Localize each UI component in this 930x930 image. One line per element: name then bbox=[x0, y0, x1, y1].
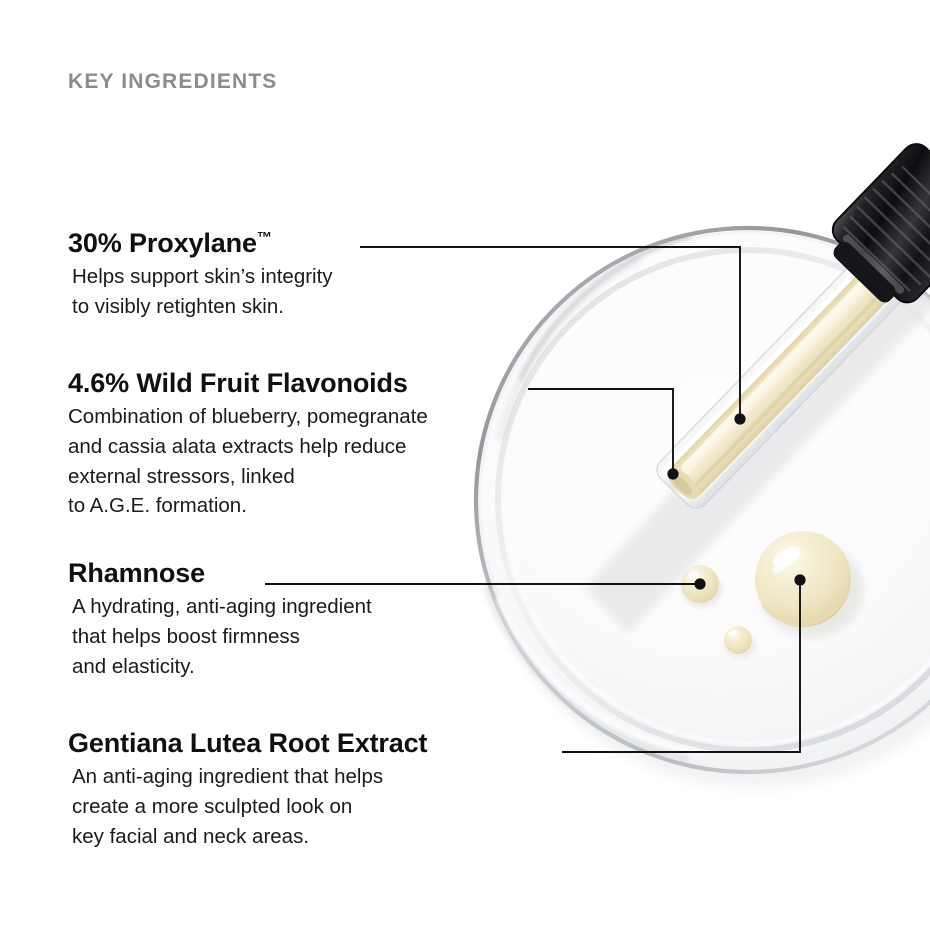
trademark-symbol: ™ bbox=[257, 230, 272, 247]
ingredient-name-text: Gentiana Lutea Root Extract bbox=[68, 728, 427, 758]
ingredient-description-gentiana: An anti-aging ingredient that helps crea… bbox=[68, 762, 427, 851]
ingredient-description-flavonoids: Combination of blueberry, pomegranate an… bbox=[68, 402, 428, 521]
ingredient-description-proxylane: Helps support skin’s integrity to visibl… bbox=[68, 262, 333, 321]
ingredient-name-text: 30% Proxylane bbox=[68, 228, 257, 258]
section-kicker: KEY INGREDIENTS bbox=[68, 70, 277, 94]
ingredient-block-flavonoids: 4.6% Wild Fruit Flavonoids Combination o… bbox=[68, 368, 428, 521]
ingredient-name-text: Rhamnose bbox=[68, 558, 205, 588]
ingredient-name-gentiana: Gentiana Lutea Root Extract bbox=[68, 728, 427, 758]
ingredient-name-text: 4.6% Wild Fruit Flavonoids bbox=[68, 368, 408, 398]
key-ingredients-infographic: KEY INGREDIENTS 30% Proxylane™ Helps sup… bbox=[0, 0, 930, 930]
ingredient-block-rhamnose: Rhamnose A hydrating, anti-aging ingredi… bbox=[68, 558, 372, 681]
ingredient-description-rhamnose: A hydrating, anti-aging ingredient that … bbox=[68, 592, 372, 681]
text-content: KEY INGREDIENTS 30% Proxylane™ Helps sup… bbox=[0, 0, 930, 930]
ingredient-block-gentiana: Gentiana Lutea Root Extract An anti-agin… bbox=[68, 728, 427, 851]
ingredient-block-proxylane: 30% Proxylane™ Helps support skin’s inte… bbox=[68, 228, 333, 322]
ingredient-name-rhamnose: Rhamnose bbox=[68, 558, 372, 588]
ingredient-name-proxylane: 30% Proxylane™ bbox=[68, 228, 333, 258]
ingredient-name-flavonoids: 4.6% Wild Fruit Flavonoids bbox=[68, 368, 428, 398]
